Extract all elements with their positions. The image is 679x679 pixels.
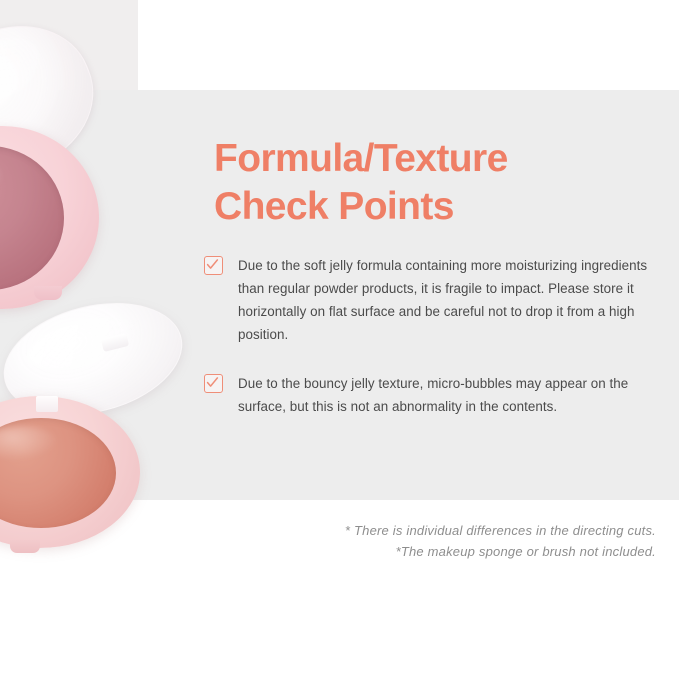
page-title-line-1: Formula/Texture: [214, 135, 634, 183]
list-item-label: Due to the soft jelly formula containing…: [238, 254, 664, 346]
product-photo-compact-lower: [0, 300, 192, 550]
page-title: Formula/Texture Check Points: [214, 135, 634, 231]
page-title-line-2: Check Points: [214, 183, 634, 231]
product-infographic: Formula/Texture Check Points Due to the …: [0, 0, 679, 679]
compact-hinge-lower: [36, 396, 58, 412]
list-item: Due to the soft jelly formula containing…: [204, 254, 664, 346]
checkbox-checked-icon: [204, 256, 223, 275]
compact-case-notch-upper: [34, 286, 62, 300]
footnotes: * There is individual differences in the…: [240, 520, 656, 562]
product-photo-compact-upper: [0, 28, 112, 288]
list-item: Due to the bouncy jelly texture, micro-b…: [204, 372, 664, 418]
footnote-2: *The makeup sponge or brush not included…: [240, 541, 656, 562]
list-item-label: Due to the bouncy jelly texture, micro-b…: [238, 372, 664, 418]
compact-case-notch-lower: [10, 540, 40, 553]
checkbox-checked-icon: [204, 374, 223, 393]
footnote-1: * There is individual differences in the…: [240, 520, 656, 541]
check-points-list: Due to the soft jelly formula containing…: [204, 254, 664, 444]
